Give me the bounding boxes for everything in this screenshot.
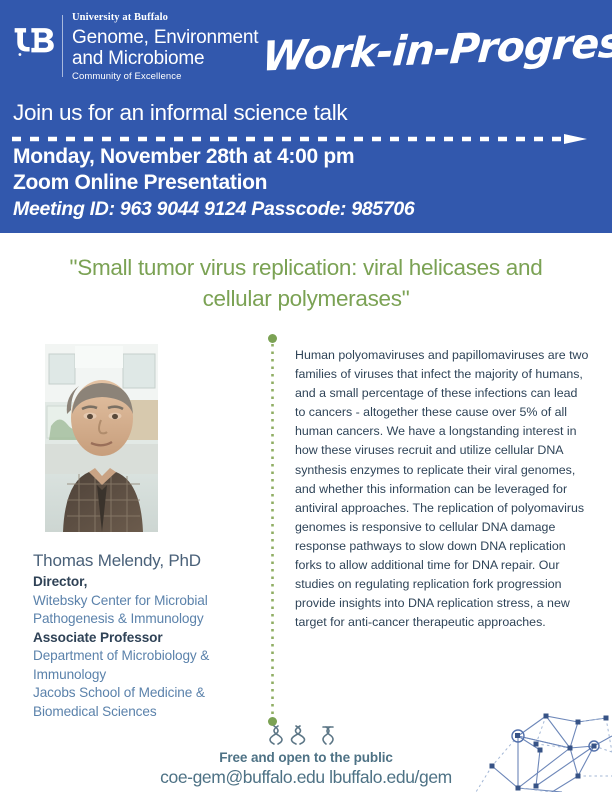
speaker-affiliation-line: Witebsky Center for Microbial — [33, 592, 265, 611]
speaker-portrait-image — [45, 344, 158, 532]
event-datetime: Monday, November 28th at 4:00 pm — [13, 144, 603, 170]
ub-gem-logo: University at Buffalo Genome, Environmen… — [12, 13, 258, 81]
abstract-text: Human polyomaviruses and papillomaviruse… — [295, 346, 591, 632]
event-format: Zoom Online Presentation — [13, 170, 603, 196]
speaker-info: Thomas Melendy, PhD Director, Witebsky C… — [33, 550, 265, 721]
speaker-affiliation-line: Associate Professor — [33, 629, 265, 648]
zoom-meeting-credentials: Meeting ID: 963 9044 9124 Passcode: 9857… — [13, 196, 603, 223]
speaker-name: Thomas Melendy, PhD — [33, 550, 265, 572]
ub-interlock-logo-icon — [12, 21, 56, 59]
header-banner: University at Buffalo Genome, Environmen… — [0, 0, 612, 233]
talk-title-line-2: cellular polymerases" — [20, 283, 592, 314]
event-details: Monday, November 28th at 4:00 pm Zoom On… — [13, 144, 603, 223]
logo-unit-line-1: Genome, Environment — [72, 27, 258, 48]
dashed-arrow-right-icon — [12, 134, 590, 144]
logo-university-name: University at Buffalo — [72, 13, 258, 24]
speaker-affiliation-line: Jacobs School of Medicine & — [33, 684, 265, 703]
speaker-affiliation-line: Department of Microbiology & — [33, 647, 265, 666]
invite-text: Join us for an informal science talk — [13, 100, 347, 126]
speaker-affiliation-line: Immunology — [33, 666, 265, 685]
talk-title: "Small tumor virus replication: viral he… — [20, 252, 592, 314]
dna-helix-glyphs-icon — [268, 722, 344, 748]
logo-divider-rule — [62, 15, 63, 77]
speaker-affiliation-line: Biomedical Sciences — [33, 703, 265, 722]
series-title: Work-in-Progress — [260, 7, 605, 92]
network-graph-decoration-icon — [466, 696, 612, 792]
free-admission-text: Free and open to the public — [106, 750, 506, 765]
talk-title-line-1: "Small tumor virus replication: viral he… — [20, 252, 592, 283]
column-divider — [268, 334, 277, 726]
logo-unit-line-2: and Microbiome — [72, 48, 258, 69]
contact-text[interactable]: coe-gem@buffalo.edu lbuffalo.edu/gem — [86, 767, 526, 788]
speaker-photo — [45, 344, 158, 532]
logo-tagline: Community of Excellence — [72, 72, 258, 82]
speaker-affiliation-line: Pathogenesis & Immunology — [33, 610, 265, 629]
speaker-affiliation-line: Director, — [33, 573, 265, 592]
